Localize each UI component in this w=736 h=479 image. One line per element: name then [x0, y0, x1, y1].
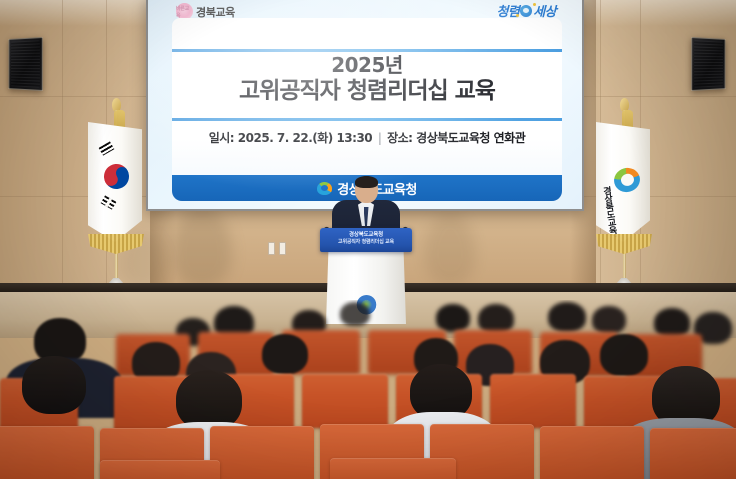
trigram-gon-icon	[101, 195, 117, 209]
audience-head	[262, 334, 308, 374]
slide-title-block: 2025년 고위공직자 청렴리더십 교육	[172, 54, 562, 106]
auditorium-seat	[100, 460, 220, 479]
audience-head	[600, 334, 648, 376]
slide-title-line-2: 고위공직자 청렴리더십 교육	[172, 78, 562, 106]
taeguk-circle-icon	[100, 160, 134, 194]
flag-education-office: 경상북도교육청	[584, 96, 664, 296]
audience-head	[436, 304, 470, 332]
divider-top	[172, 49, 562, 52]
slide-subtitle: 일시: 2025. 7. 22.(화) 13:30 | 장소: 경상북도교육청 …	[172, 129, 562, 146]
wall-speaker-right	[691, 37, 725, 91]
flag-fringe	[596, 234, 652, 254]
education-office-emblem-icon	[611, 165, 643, 195]
slide-content-card: 2025년 고위공직자 청렴리더십 교육 일시: 2025. 7. 22.(화)…	[172, 18, 562, 196]
audience-area	[0, 300, 736, 479]
podium-plate-line-1: 경상북도교육청	[335, 232, 397, 239]
audience-head	[548, 302, 586, 332]
auditorium-scene: 바른교육 경북교육 청렴 세상 2025년 고위공직자 청렴	[0, 0, 736, 479]
wall-seam-vertical-1	[62, 0, 63, 290]
subtitle-date-value: 2025. 7. 22.(화) 13:30	[238, 131, 372, 145]
podium-nameplate: 경상북도교육청 고위공직자 청렴리더십 교육	[335, 232, 397, 245]
subtitle-separator: |	[376, 131, 384, 145]
audience-head	[592, 306, 626, 334]
education-office-banner: 경상북도교육청	[596, 122, 650, 242]
trigram-geon-icon	[99, 141, 115, 155]
flag-fringe	[88, 234, 144, 254]
subtitle-place-label: 장소:	[387, 131, 412, 145]
auditorium-seat	[210, 426, 314, 479]
podium-nameplate-panel: 경상북도교육청 고위공직자 청렴리더십 교육	[320, 228, 412, 252]
divider-bottom	[172, 118, 562, 121]
presenter-hair	[355, 176, 378, 188]
subtitle-date-label: 일시:	[209, 131, 234, 145]
subtitle-place-value: 경상북도교육청 연화관	[416, 131, 525, 145]
audience-head	[22, 356, 86, 414]
logo-mark-text: 바른교육	[176, 5, 193, 19]
flag-national	[76, 96, 156, 296]
auditorium-seat	[0, 426, 94, 479]
podium-plate-line-2: 고위공직자 청렴리더십 교육	[335, 239, 397, 246]
taegukgi-banner	[88, 122, 142, 242]
auditorium-seat	[302, 374, 388, 428]
speaker-mount	[691, 37, 725, 91]
audience-head	[340, 302, 370, 326]
auditorium-seat	[490, 374, 576, 428]
auditorium-seat	[650, 428, 736, 479]
wall-switch-plate-left[interactable]	[268, 242, 275, 255]
globe-face-icon	[520, 5, 532, 17]
wall-switch-plate-right[interactable]	[279, 242, 286, 255]
audience-head	[176, 370, 242, 430]
auditorium-seat	[540, 426, 644, 479]
education-office-flag-label: 경상북도교육청	[600, 185, 619, 238]
speaker-mount	[9, 37, 43, 91]
auditorium-seat	[330, 458, 456, 479]
slide-title-line-1: 2025년	[172, 54, 562, 77]
wall-speaker-left	[9, 37, 43, 91]
